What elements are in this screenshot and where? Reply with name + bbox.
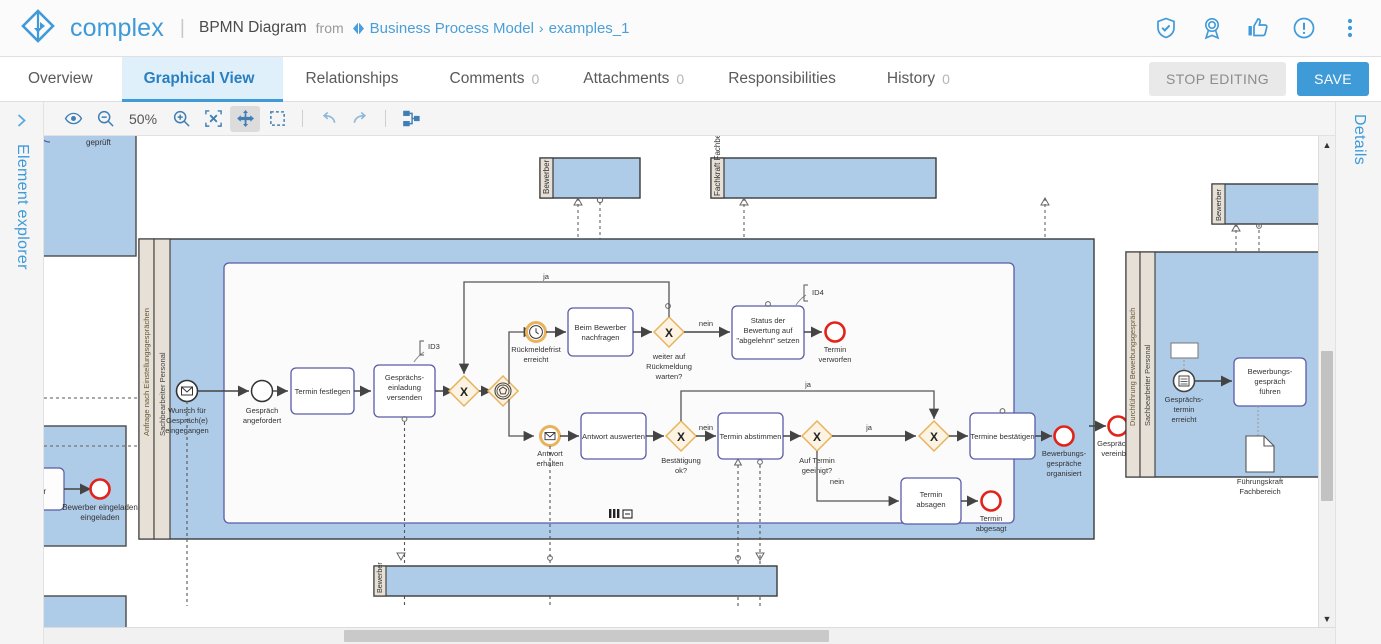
canvas-toolbar: 50% bbox=[44, 102, 1335, 136]
pool-bewerber-bottom[interactable]: Bewerber bbox=[374, 553, 777, 596]
svg-text:X: X bbox=[813, 430, 821, 444]
breadcrumb-parent-link[interactable]: Business Process Model bbox=[370, 20, 534, 37]
redo-icon[interactable] bbox=[345, 106, 375, 132]
element-explorer-label: Element explorer bbox=[13, 144, 31, 270]
element-explorer-rail[interactable]: Element explorer bbox=[0, 102, 44, 644]
zoom-level-label[interactable]: 50% bbox=[122, 111, 164, 127]
svg-text:termin: termin bbox=[1174, 405, 1195, 414]
event-label-bewerber-eingeladen: Bewerber eingeladen bbox=[62, 503, 138, 512]
fragment-label-geprueft: geprüft bbox=[86, 138, 112, 147]
fit-to-screen-icon[interactable] bbox=[198, 106, 228, 132]
pool-label-fachkraft-top: Fachkraft Fachbereich bbox=[713, 136, 722, 196]
shield-check-icon[interactable] bbox=[1153, 15, 1179, 41]
svg-text:Rückmeldung: Rückmeldung bbox=[646, 362, 692, 371]
svg-text:organisiert: organisiert bbox=[1046, 469, 1082, 478]
svg-text:Status der: Status der bbox=[751, 316, 786, 325]
lane-title-right: Durchführung Bewerbungsgespräch bbox=[1128, 308, 1137, 426]
svg-text:Bestätigung: Bestätigung bbox=[661, 456, 701, 465]
tab-action-group: STOP EDITING SAVE bbox=[1149, 57, 1381, 101]
flow-label-nein-3: nein bbox=[830, 477, 844, 486]
svg-text:warten?: warten? bbox=[655, 372, 683, 381]
tab-history[interactable]: History 0 bbox=[865, 57, 972, 101]
svg-text:erreicht: erreicht bbox=[1171, 415, 1197, 424]
tab-bar-spacer bbox=[972, 57, 1149, 101]
tab-attachments[interactable]: Attachments 0 bbox=[561, 57, 706, 101]
lane-subtitle-right: Sachbearbeiter Personal bbox=[1143, 344, 1152, 426]
svg-text:Termin: Termin bbox=[920, 490, 943, 499]
svg-text:gespräche: gespräche bbox=[1046, 459, 1081, 468]
tab-count: 0 bbox=[942, 71, 950, 87]
app-logo-icon bbox=[16, 6, 60, 50]
breadcrumb-chevron-icon: › bbox=[539, 20, 544, 36]
details-label: Details bbox=[1350, 114, 1368, 165]
workspace: Element explorer 50% bbox=[0, 102, 1381, 644]
svg-text:Bewerbungs-: Bewerbungs- bbox=[1042, 449, 1087, 458]
svg-text:erreicht: erreicht bbox=[523, 355, 549, 364]
pool-fragment-top-left[interactable]: geprüft bbox=[44, 136, 136, 256]
tab-label: Overview bbox=[28, 70, 93, 88]
canvas-horizontal-scrollbar[interactable] bbox=[44, 627, 1335, 644]
chevron-right-icon[interactable] bbox=[13, 112, 30, 134]
pool-fragment-left-bottom[interactable] bbox=[44, 596, 126, 627]
header-separator: | bbox=[180, 17, 185, 40]
toolbar-divider-2 bbox=[385, 110, 386, 127]
svg-text:X: X bbox=[665, 326, 673, 340]
svg-text:Fachbereich: Fachbereich bbox=[1239, 487, 1280, 496]
annotation-id4: ID4 bbox=[812, 288, 824, 297]
element-task-antwort-auswerten[interactable]: Antwort auswerten bbox=[581, 413, 646, 459]
svg-text:gespräch: gespräch bbox=[1254, 377, 1285, 386]
pool-label-bewerber-bottom: Bewerber bbox=[375, 562, 384, 593]
task-label: Antwort auswerten bbox=[582, 432, 645, 441]
tab-count: 0 bbox=[531, 71, 539, 87]
svg-text:Führungskraft: Führungskraft bbox=[1237, 477, 1284, 486]
svg-text:nachfragen: nachfragen bbox=[582, 333, 620, 342]
flow-label-nein-1: nein bbox=[699, 319, 713, 328]
breadcrumb-child-link[interactable]: examples_1 bbox=[549, 20, 630, 37]
svg-text:versenden: versenden bbox=[387, 393, 422, 402]
tab-label: Relationships bbox=[305, 70, 398, 88]
app-header: complex | BPMN Diagram from Business Pro… bbox=[0, 0, 1381, 57]
horizontal-scroll-thumb[interactable] bbox=[344, 630, 829, 642]
svg-text:absagen: absagen bbox=[916, 500, 945, 509]
save-button[interactable]: SAVE bbox=[1297, 62, 1369, 96]
flow-label-ja-2: ja bbox=[804, 380, 812, 389]
diagram-canvas[interactable]: geprüft n spr en Bewerber eingeladen ein… bbox=[44, 136, 1335, 627]
svg-text:Bewertung auf: Bewertung auf bbox=[744, 326, 794, 335]
pool-fragment-left-lower[interactable]: n spr en Bewerber eingeladen eingeladen bbox=[44, 426, 138, 546]
scroll-down-arrow-icon[interactable]: ▼ bbox=[1319, 610, 1335, 627]
svg-text:eingeladen: eingeladen bbox=[80, 513, 119, 522]
zoom-out-icon[interactable] bbox=[90, 106, 120, 132]
pool-label-bewerber-right: Bewerber bbox=[1214, 188, 1223, 221]
svg-text:weiter auf: weiter auf bbox=[652, 352, 686, 361]
lane-title-main: Anfrage nach Einstellungsgesprächen bbox=[142, 308, 151, 436]
task-label: Termin festlegen bbox=[295, 387, 351, 396]
details-rail[interactable]: Details bbox=[1335, 102, 1381, 644]
annotation-id3: ID3 bbox=[428, 342, 440, 351]
eye-icon[interactable] bbox=[58, 106, 88, 132]
flow-label-ja-3: ja bbox=[865, 423, 873, 432]
svg-text:einladung: einladung bbox=[388, 383, 421, 392]
exclamation-circle-icon[interactable] bbox=[1291, 15, 1317, 41]
svg-text:verworfen: verworfen bbox=[819, 355, 852, 364]
document-type-label: BPMN Diagram bbox=[199, 19, 307, 37]
svg-text:X: X bbox=[460, 385, 468, 399]
element-task-termine-bestaetigen[interactable]: Termine bestätigen bbox=[970, 409, 1035, 459]
svg-text:Gesprächs-: Gesprächs- bbox=[1165, 395, 1204, 404]
canvas-column: 50% bbox=[44, 102, 1335, 644]
svg-text:Bewerbungs-: Bewerbungs- bbox=[1248, 367, 1293, 376]
auto-layout-icon[interactable] bbox=[396, 106, 426, 132]
tab-responsibilities[interactable]: Responsibilities bbox=[706, 57, 865, 101]
tab-label: Attachments bbox=[583, 70, 669, 88]
tab-label: Comments bbox=[450, 70, 525, 88]
tab-count: 0 bbox=[676, 71, 684, 87]
tab-bar: Overview Graphical View Relationships Co… bbox=[0, 57, 1381, 102]
tab-label: Responsibilities bbox=[728, 70, 836, 88]
canvas-vertical-scrollbar[interactable]: ▲ ▼ bbox=[1318, 136, 1335, 627]
model-diamond-icon bbox=[351, 21, 366, 36]
svg-text:Gespräch: Gespräch bbox=[246, 406, 279, 415]
tab-label: Graphical View bbox=[144, 70, 255, 88]
pan-move-icon[interactable] bbox=[230, 106, 260, 132]
element-task-termin-festlegen[interactable]: Termin festlegen bbox=[291, 368, 354, 414]
thumbs-up-icon[interactable] bbox=[1245, 15, 1271, 41]
pool-durchfuehrung-right[interactable]: Durchführung Bewerbungsgespräch Sachbear… bbox=[1126, 252, 1335, 496]
tab-overview[interactable]: Overview bbox=[6, 57, 122, 101]
from-label: from bbox=[316, 20, 344, 36]
flow-label-ja-1: ja bbox=[542, 272, 550, 281]
svg-text:Beim Bewerber: Beim Bewerber bbox=[575, 323, 627, 332]
svg-text:angefordert: angefordert bbox=[243, 416, 282, 425]
task-label: Termin abstimmen bbox=[719, 432, 781, 441]
svg-text:führen: führen bbox=[1259, 387, 1281, 396]
marquee-select-icon[interactable] bbox=[262, 106, 292, 132]
vertical-scroll-thumb[interactable] bbox=[1321, 351, 1333, 501]
svg-text:X: X bbox=[677, 430, 685, 444]
header-icon-group bbox=[1153, 15, 1367, 41]
award-ribbon-icon[interactable] bbox=[1199, 15, 1225, 41]
svg-text:ok?: ok? bbox=[675, 466, 687, 475]
svg-text:Rückmeldefrist: Rückmeldefrist bbox=[511, 345, 562, 354]
zoom-in-icon[interactable] bbox=[166, 106, 196, 132]
tab-comments[interactable]: Comments 0 bbox=[428, 57, 562, 101]
scroll-up-arrow-icon[interactable]: ▲ bbox=[1319, 136, 1335, 153]
tab-label: History bbox=[887, 70, 935, 88]
undo-icon[interactable] bbox=[313, 106, 343, 132]
pool-label-bewerber-top: Bewerber bbox=[542, 159, 551, 194]
svg-text:spr: spr bbox=[44, 487, 46, 496]
svg-text:Termin: Termin bbox=[824, 345, 847, 354]
svg-text:"abgelehnt" setzen: "abgelehnt" setzen bbox=[736, 336, 799, 345]
flow-label-nein-2: nein bbox=[699, 423, 713, 432]
stop-editing-button[interactable]: STOP EDITING bbox=[1149, 62, 1286, 96]
toolbar-divider bbox=[302, 110, 303, 127]
svg-text:Gesprächs-: Gesprächs- bbox=[385, 373, 425, 382]
svg-text:X: X bbox=[930, 430, 938, 444]
bpmn-diagram[interactable]: geprüft n spr en Bewerber eingeladen ein… bbox=[44, 136, 1335, 627]
svg-text:abgesagt: abgesagt bbox=[976, 524, 1008, 533]
more-vertical-icon[interactable] bbox=[1337, 15, 1363, 41]
element-task-termin-absagen[interactable]: Termin absagen bbox=[901, 478, 961, 524]
task-label: Termine bestätigen bbox=[970, 432, 1034, 441]
tab-graphical-view[interactable]: Graphical View bbox=[122, 57, 284, 101]
tab-relationships[interactable]: Relationships bbox=[283, 57, 427, 101]
page-title: complex bbox=[70, 14, 164, 43]
svg-text:Termin: Termin bbox=[980, 514, 1003, 523]
